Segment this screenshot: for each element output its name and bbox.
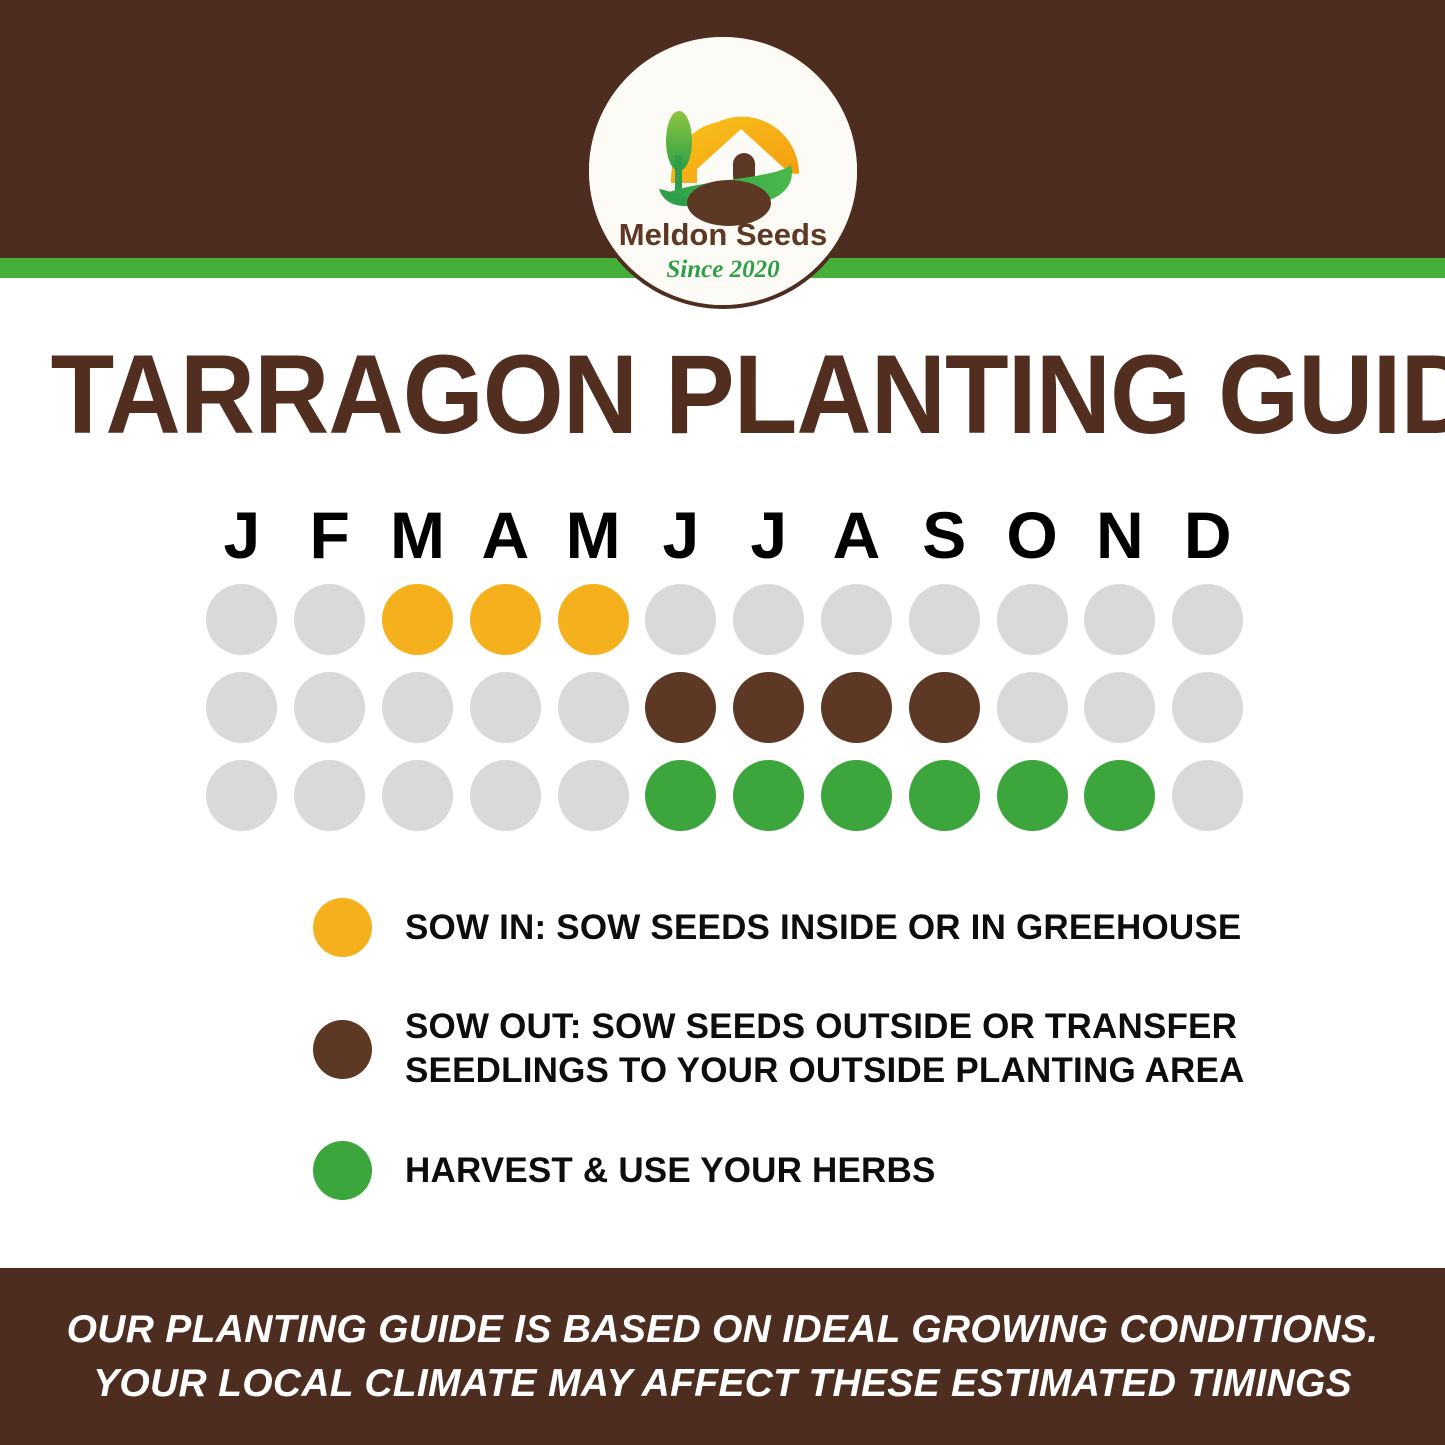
calendar-cell-sow-out-D (1164, 672, 1252, 743)
legend-dot-harvest (313, 1141, 372, 1200)
dot-inactive (1172, 584, 1243, 655)
legend-label-sow-out: SOW OUT: SOW SEEDS OUTSIDE OR TRANSFER S… (405, 1005, 1244, 1093)
dot-active (733, 672, 804, 743)
dot-active (382, 584, 453, 655)
calendar-cell-sow-out-N (1076, 672, 1164, 743)
month-label: N (1076, 495, 1164, 575)
dot-inactive (1172, 760, 1243, 831)
meldon-seeds-logo-icon: Meldon Seeds Since 2020 (589, 37, 857, 305)
dot-inactive (206, 584, 277, 655)
month-label: S (900, 495, 988, 575)
month-label: F (286, 495, 374, 575)
dot-inactive (470, 760, 541, 831)
dot-active (470, 584, 541, 655)
dot-active (909, 672, 980, 743)
month-label: A (813, 495, 901, 575)
footer-disclaimer-bar: OUR PLANTING GUIDE IS BASED ON IDEAL GRO… (0, 1268, 1445, 1445)
legend-label-harvest: HARVEST & USE YOUR HERBS (405, 1149, 936, 1193)
calendar-cell-harvest-A (813, 760, 901, 831)
calendar-cell-sow-in-A (461, 584, 549, 655)
calendar-cell-sow-in-A (813, 584, 901, 655)
dot-inactive (997, 672, 1068, 743)
footer-line-1: OUR PLANTING GUIDE IS BASED ON IDEAL GRO… (67, 1303, 1379, 1357)
legend-label-sow-in: SOW IN: SOW SEEDS INSIDE OR IN GREEHOUSE (405, 906, 1241, 950)
dot-inactive (470, 672, 541, 743)
calendar-cell-sow-out-M (374, 672, 462, 743)
legend: SOW IN: SOW SEEDS INSIDE OR IN GREEHOUSE… (313, 898, 1313, 1248)
dot-inactive (821, 584, 892, 655)
logo-wordmark: Meldon Seeds (619, 217, 827, 252)
calendar-cell-sow-in-J (637, 584, 725, 655)
calendar-cell-harvest-D (1164, 760, 1252, 831)
legend-dot-sow-in (313, 898, 372, 957)
dot-inactive (558, 760, 629, 831)
dot-active (909, 760, 980, 831)
dot-active (1084, 760, 1155, 831)
calendar-cell-sow-in-M (374, 584, 462, 655)
calendar-cell-sow-in-S (900, 584, 988, 655)
calendar-cell-sow-out-O (988, 672, 1076, 743)
brand-logo: Meldon Seeds Since 2020 (585, 33, 861, 309)
dot-inactive (382, 760, 453, 831)
month-label: A (461, 495, 549, 575)
dot-active (997, 760, 1068, 831)
calendar-cell-harvest-A (461, 760, 549, 831)
dot-active (821, 760, 892, 831)
calendar-cell-harvest-M (549, 760, 637, 831)
dot-active (821, 672, 892, 743)
dot-active (645, 672, 716, 743)
logo-tagline: Since 2020 (666, 256, 780, 283)
legend-item-sow-in: SOW IN: SOW SEEDS INSIDE OR IN GREEHOUSE (313, 898, 1313, 957)
month-label: J (725, 495, 813, 575)
planting-calendar: J F M A M J J A S O N D (198, 495, 1252, 839)
calendar-cell-sow-out-M (549, 672, 637, 743)
dot-inactive (645, 584, 716, 655)
dot-inactive (909, 584, 980, 655)
dot-inactive (558, 672, 629, 743)
dot-inactive (206, 760, 277, 831)
dot-inactive (294, 672, 365, 743)
calendar-cell-harvest-J (725, 760, 813, 831)
calendar-cell-sow-out-A (813, 672, 901, 743)
calendar-cell-sow-in-D (1164, 584, 1252, 655)
dot-inactive (1172, 672, 1243, 743)
calendar-cell-harvest-S (900, 760, 988, 831)
calendar-cell-harvest-M (374, 760, 462, 831)
calendar-cell-sow-in-J (725, 584, 813, 655)
month-label: M (549, 495, 637, 575)
dot-inactive (382, 672, 453, 743)
calendar-row-sow-in (198, 575, 1252, 663)
calendar-cell-sow-out-J (637, 672, 725, 743)
dot-inactive (733, 584, 804, 655)
dot-inactive (294, 760, 365, 831)
calendar-row-harvest (198, 751, 1252, 839)
calendar-cell-sow-in-F (286, 584, 374, 655)
page-title: TARRAGON PLANTING GUIDE (51, 336, 1395, 454)
legend-item-sow-out: SOW OUT: SOW SEEDS OUTSIDE OR TRANSFER S… (313, 1005, 1313, 1093)
dot-active (645, 760, 716, 831)
calendar-row-sow-out (198, 663, 1252, 751)
month-label: M (374, 495, 462, 575)
footer-line-2: YOUR LOCAL CLIMATE MAY AFFECT THESE ESTI… (93, 1357, 1352, 1411)
dot-inactive (294, 584, 365, 655)
calendar-cell-harvest-N (1076, 760, 1164, 831)
calendar-cell-sow-out-J (198, 672, 286, 743)
calendar-cell-sow-out-J (725, 672, 813, 743)
month-label: J (637, 495, 725, 575)
month-label: J (198, 495, 286, 575)
dot-active (558, 584, 629, 655)
dot-active (733, 760, 804, 831)
dot-inactive (1084, 584, 1155, 655)
month-header-row: J F M A M J J A S O N D (198, 495, 1252, 575)
calendar-cell-sow-in-M (549, 584, 637, 655)
calendar-cell-sow-in-N (1076, 584, 1164, 655)
calendar-cell-sow-in-J (198, 584, 286, 655)
planting-guide-infographic: Meldon Seeds Since 2020 TARRAGON PLANTIN… (0, 0, 1445, 1445)
calendar-cell-sow-out-A (461, 672, 549, 743)
calendar-cell-harvest-F (286, 760, 374, 831)
legend-item-harvest: HARVEST & USE YOUR HERBS (313, 1141, 1313, 1200)
month-label: D (1164, 495, 1252, 575)
calendar-cell-sow-in-O (988, 584, 1076, 655)
month-label: O (988, 495, 1076, 575)
calendar-cell-harvest-J (637, 760, 725, 831)
calendar-cell-harvest-J (198, 760, 286, 831)
calendar-cell-harvest-O (988, 760, 1076, 831)
dot-inactive (1084, 672, 1155, 743)
dot-inactive (206, 672, 277, 743)
calendar-cell-sow-out-S (900, 672, 988, 743)
calendar-cell-sow-out-F (286, 672, 374, 743)
legend-dot-sow-out (313, 1020, 372, 1079)
dot-inactive (997, 584, 1068, 655)
